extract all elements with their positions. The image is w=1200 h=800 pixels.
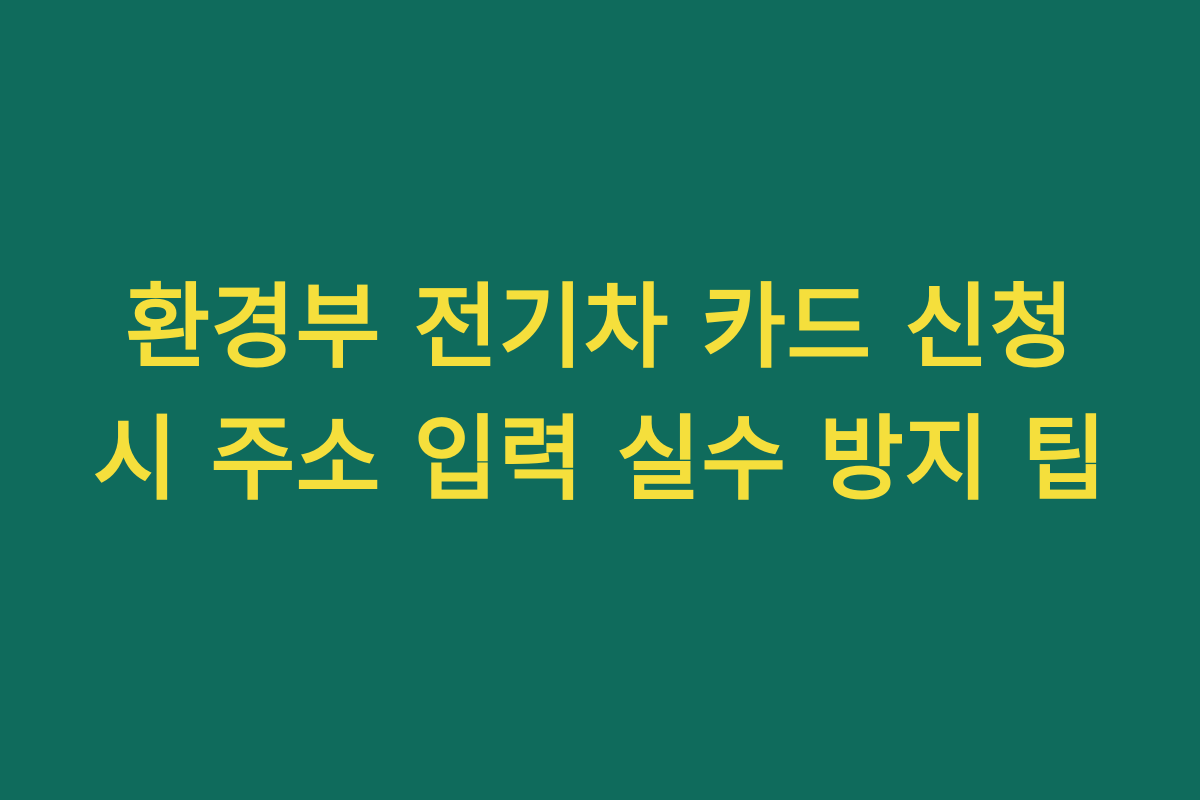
page-title: 환경부 전기차 카드 신청 시 주소 입력 실수 방지 팁	[90, 262, 1110, 526]
title-thumbnail-card: 환경부 전기차 카드 신청 시 주소 입력 실수 방지 팁	[0, 0, 1200, 800]
title-block: 환경부 전기차 카드 신청 시 주소 입력 실수 방지 팁	[80, 262, 1120, 526]
